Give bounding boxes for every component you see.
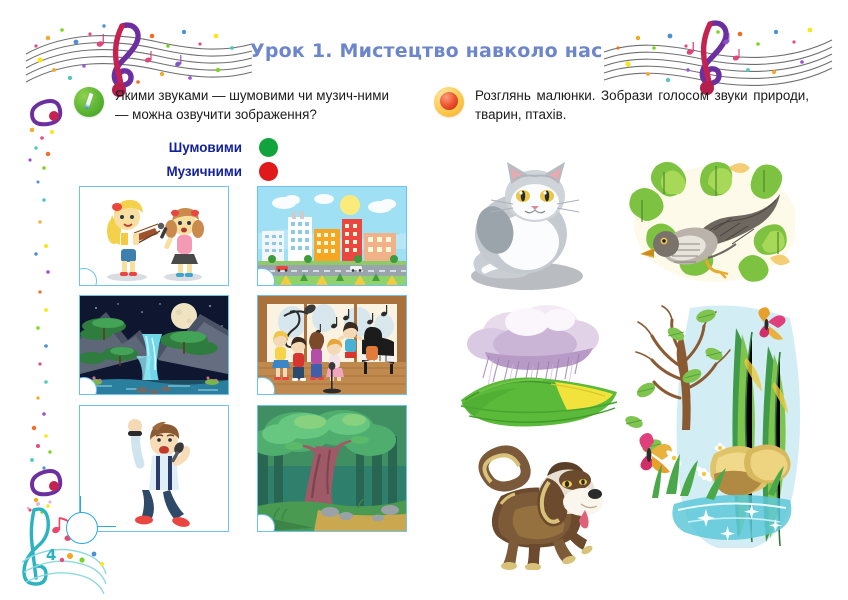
corner-line-horizontal: [96, 526, 116, 527]
cuckoo-bird-on-leaves: [620, 148, 795, 293]
legend-label-musical: Музичними: [132, 164, 242, 179]
picture-kitten: [455, 150, 615, 295]
butterflies-by-tree: [618, 298, 803, 548]
corner-circle-marker: [66, 512, 98, 544]
picture-frame-city[interactable]: [257, 186, 407, 286]
picture-cuckoo: [620, 148, 795, 293]
picture-rain-cloud: [455, 300, 620, 432]
girls-playing-violin-and-singing: [80, 187, 228, 285]
task-2: Розглянь малюнки. Зобрази голосом звуки …: [434, 86, 809, 124]
legend-dot-green: [259, 138, 278, 157]
city-street-with-buildings: [258, 187, 406, 285]
picture-frame-waterfall[interactable]: [79, 295, 229, 395]
picture-butterflies-tree: [618, 298, 803, 548]
picture-frame-girls-violin[interactable]: [79, 186, 229, 286]
confetti-notes-border-icon: [14, 96, 76, 516]
ball-icon: [434, 87, 464, 117]
waterfall-at-night-with-moon: [80, 296, 228, 394]
task-1: Якими звуками — шумовими чи музич-ними —…: [74, 86, 404, 124]
page-number: 4: [46, 546, 56, 564]
children-music-performance: [258, 296, 406, 394]
picture-puppy: [455, 440, 610, 570]
page-title: Урок 1. Мистецтво навколо нас: [250, 40, 600, 62]
task-1-text: Якими звуками — шумовими чи музич-ними —…: [115, 86, 404, 124]
rain-cloud-over-field: [455, 300, 620, 432]
treble-clef-corner-icon: [8, 498, 114, 598]
legend-label-noise: Шумовими: [132, 140, 242, 155]
textbook-page: Урок 1. Мистецтво навколо нас Якими звук…: [0, 0, 848, 600]
pencil-icon: [74, 87, 104, 117]
legend-item-noise: Шумовими: [132, 137, 278, 158]
task-2-text: Розглянь малюнки. Зобрази голосом звуки …: [475, 86, 809, 124]
grey-kitten: [455, 150, 615, 295]
forest-with-big-tree: [258, 406, 406, 531]
legend: Шумовими Музичними: [132, 137, 278, 185]
picture-frame-forest[interactable]: [257, 405, 407, 532]
legend-dot-red: [259, 162, 278, 181]
legend-item-musical: Музичними: [132, 161, 278, 182]
picture-frame-kids-performance[interactable]: [257, 295, 407, 395]
brown-puppy: [455, 440, 610, 570]
